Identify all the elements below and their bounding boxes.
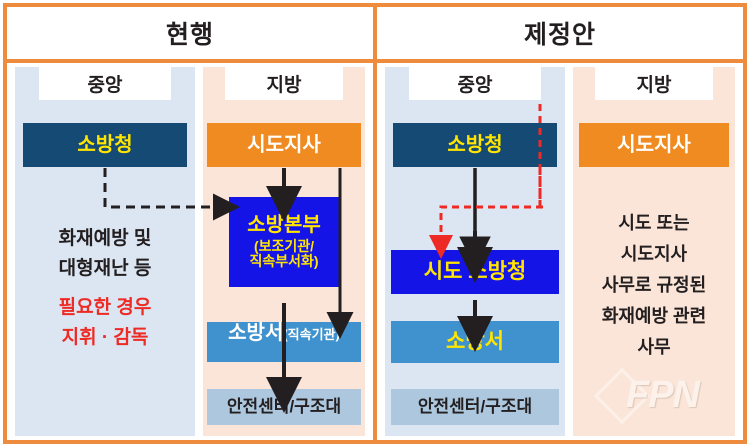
diagram-frame: 현행 제정안 중앙 지방 소방청 시도지사 소방본부 (보조기관/ 직속부서화) bbox=[0, 0, 750, 447]
column-header-central-proposal: 중앙 bbox=[409, 67, 541, 100]
note-proposal-line5: 사무 bbox=[575, 333, 733, 359]
note-proposal-line4: 화재예방 관련 bbox=[575, 302, 733, 328]
node-governor-current-label: 시도지사 bbox=[247, 134, 321, 156]
column-header-local-current: 지방 bbox=[225, 67, 343, 100]
node-safety-center-proposal-label: 안전센터/구조대 bbox=[418, 397, 532, 416]
node-safety-center-current-label: 안전센터/구조대 bbox=[227, 397, 341, 416]
node-governor-current[interactable]: 시도지사 bbox=[207, 123, 361, 167]
node-fire-agency-current-label: 소방청 bbox=[77, 134, 132, 156]
note-current-line3: 필요한 경우 bbox=[19, 292, 191, 319]
node-fire-station-current-label: 소방서 bbox=[228, 322, 283, 344]
note-proposal-line1: 시도 또는 bbox=[575, 209, 733, 235]
panel-title-current: 현행 bbox=[7, 7, 373, 59]
fpn-watermark-text: FPN bbox=[626, 374, 699, 417]
node-fire-station-current[interactable]: 소방서 (직속기관) bbox=[207, 322, 361, 362]
note-proposal-line3: 사무로 규정된 bbox=[575, 271, 733, 297]
column-header-central-current: 중앙 bbox=[39, 67, 171, 100]
panel-current: 중앙 지방 소방청 시도지사 소방본부 (보조기관/ 직속부서화) 소방서 (직… bbox=[7, 63, 373, 440]
node-city-fire-agency-proposal-label: 시도 소방청 bbox=[424, 260, 526, 284]
note-current-line4: 지휘 · 감독 bbox=[19, 322, 191, 349]
node-fire-headquarters-current-label: 소방본부 bbox=[247, 214, 321, 236]
note-current: 화재예방 및 대형재난 등 필요한 경우 지휘 · 감독 bbox=[19, 223, 191, 349]
column-header-local-proposal: 지방 bbox=[595, 67, 713, 100]
node-fire-agency-proposal-label: 소방청 bbox=[447, 134, 502, 156]
node-fire-station-proposal-label: 소방서 bbox=[446, 330, 504, 354]
node-fire-agency-proposal[interactable]: 소방청 bbox=[393, 123, 557, 167]
note-proposal: 시도 또는 시도지사 사무로 규정된 화재예방 관련 사무 bbox=[575, 209, 733, 359]
node-city-fire-agency-proposal[interactable]: 시도 소방청 bbox=[391, 250, 559, 294]
node-safety-center-proposal[interactable]: 안전센터/구조대 bbox=[391, 389, 559, 425]
node-fire-station-proposal[interactable]: 소방서 bbox=[391, 321, 559, 363]
panel-title-proposal: 제정안 bbox=[377, 7, 743, 59]
node-fire-headquarters-current-sub2: 직속부서화) bbox=[249, 254, 318, 270]
node-governor-proposal-label: 시도지사 bbox=[617, 134, 691, 156]
note-current-line2: 대형재난 등 bbox=[19, 253, 191, 280]
node-governor-proposal[interactable]: 시도지사 bbox=[579, 123, 729, 167]
node-safety-center-current[interactable]: 안전센터/구조대 bbox=[207, 389, 361, 425]
note-current-line1: 화재예방 및 bbox=[19, 223, 191, 250]
fpn-watermark: FPN bbox=[596, 368, 736, 430]
node-fire-agency-current[interactable]: 소방청 bbox=[23, 123, 187, 167]
node-fire-station-current-sub: (직속기관) bbox=[283, 328, 340, 343]
node-fire-headquarters-current[interactable]: 소방본부 (보조기관/ 직속부서화) bbox=[229, 197, 339, 287]
node-fire-headquarters-current-sub1: (보조기관/ bbox=[254, 239, 314, 255]
note-proposal-line2: 시도지사 bbox=[575, 240, 733, 266]
